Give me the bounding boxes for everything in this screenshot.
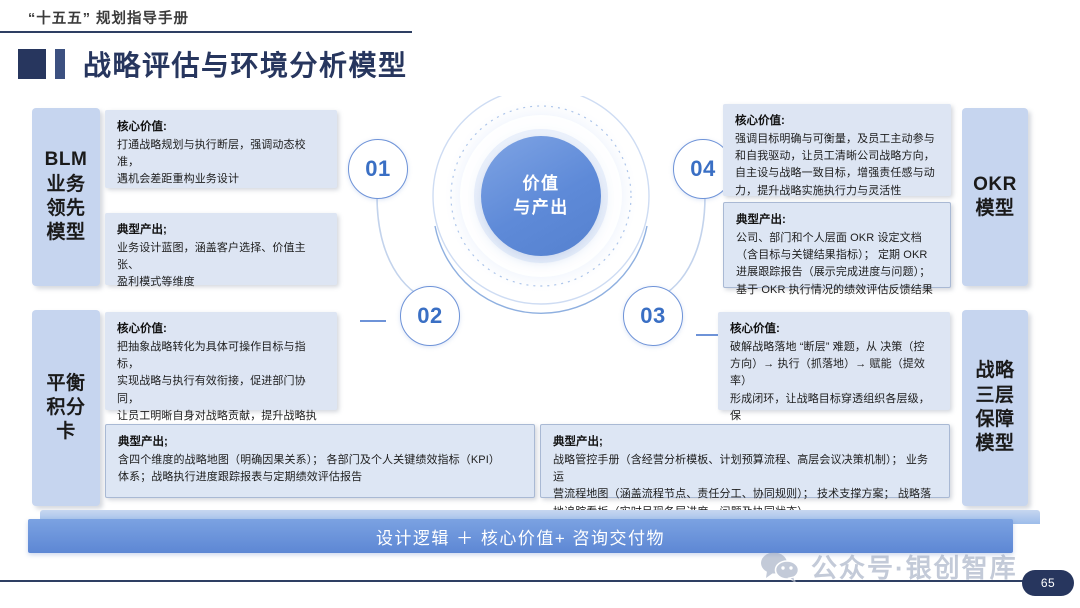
card-okr-output-head: 典型产出: bbox=[736, 212, 939, 229]
core-circle: 价值 与产出 bbox=[481, 136, 601, 256]
model-pill-blm[interactable]: BLM 业务 领先 模型 bbox=[32, 108, 100, 286]
card-blm-core-value-head: 核心价值: bbox=[117, 119, 326, 136]
card-blm-output-head: 典型产出; bbox=[117, 222, 326, 239]
card-bsc-core-value[interactable]: 核心价值: 把抽象战略转化为具体可操作目标与指标， 实现战略与执行有效衔接，促进… bbox=[105, 312, 337, 410]
wechat-watermark: 公众号·银创智库 bbox=[760, 548, 1018, 585]
model-pill-okr[interactable]: OKR 模型 bbox=[962, 108, 1028, 286]
model-pill-three-layer[interactable]: 战略 三层 保障 模型 bbox=[962, 310, 1028, 506]
card-okr-output[interactable]: 典型产出: 公司、部门和个人层面 OKR 设定文档 （含目标与关键结果指标）； … bbox=[723, 202, 951, 288]
card-three-layer-output-head: 典型产出; bbox=[553, 434, 938, 451]
card-blm-output-body: 业务设计蓝图，涵盖客户选择、价值主张、 盈利模式等维度 bbox=[117, 240, 326, 292]
card-blm-core-value-body: 打通战略规划与执行断层，强调动态校准， 遇机会差距重构业务设计 bbox=[117, 137, 326, 189]
wechat-watermark-label: 公众号·银创智库 bbox=[811, 548, 1018, 585]
model-pill-bsc-label: 平衡 积分 卡 bbox=[46, 372, 85, 445]
model-pill-three-layer-label: 战略 三层 保障 模型 bbox=[975, 359, 1014, 456]
core-label-line-1: 价值 bbox=[523, 172, 560, 196]
wechat-icon bbox=[760, 551, 800, 583]
model-pill-bsc[interactable]: 平衡 积分 卡 bbox=[32, 310, 100, 506]
card-bsc-output-body: 含四个维度的战略地图（明确因果关系）； 各部门及个人关键绩效指标（KPI） 体系… bbox=[118, 452, 523, 487]
card-bsc-core-value-head: 核心价值: bbox=[117, 321, 326, 338]
model-pill-blm-label: BLM 业务 领先 模型 bbox=[45, 148, 88, 245]
card-three-layer-output[interactable]: 典型产出; 战略管控手册（含经营分析模板、计划预算流程、高层会议决策机制）； 业… bbox=[540, 424, 950, 498]
step-badge-03[interactable]: 03 bbox=[623, 286, 683, 346]
card-three-layer-core-value[interactable]: 核心价值: 破解战略落地 “断层” 难题，从 决策（控 方向）→ 执行（抓落地）… bbox=[718, 312, 950, 410]
step-badge-02[interactable]: 02 bbox=[400, 286, 460, 346]
step-badge-01[interactable]: 01 bbox=[348, 139, 408, 199]
summary-banner-label: 设计逻辑 ＋ 核心价值+ 咨询交付物 bbox=[376, 524, 665, 549]
card-bsc-output[interactable]: 典型产出; 含四个维度的战略地图（明确因果关系）； 各部门及个人关键绩效指标（K… bbox=[105, 424, 535, 498]
connector-stub-right bbox=[696, 334, 720, 336]
card-okr-output-body: 公司、部门和个人层面 OKR 设定文档 （含目标与关键结果指标）； 定期 OKR… bbox=[736, 230, 939, 300]
card-bsc-output-head: 典型产出; bbox=[118, 434, 523, 451]
card-okr-core-value-head: 核心价值: bbox=[735, 113, 940, 130]
card-three-layer-core-value-head: 核心价值: bbox=[730, 321, 939, 338]
connector-stub-left bbox=[360, 320, 386, 322]
model-pill-okr-label: OKR 模型 bbox=[973, 173, 1017, 222]
card-okr-core-value[interactable]: 核心价值: 强调目标明确与可衡量，及员工主动参与 和自我驱动，让员工清晰公司战略… bbox=[723, 104, 951, 196]
diagram-stage: 价值 与产出 01 04 02 03 BLM 业务 领先 模型 核心价值: 打通… bbox=[0, 0, 1080, 608]
card-blm-output[interactable]: 典型产出; 业务设计蓝图，涵盖客户选择、价值主张、 盈利模式等维度 bbox=[105, 213, 337, 285]
card-okr-core-value-body: 强调目标明确与可衡量，及员工主动参与 和自我驱动，让员工清晰公司战略方向， 自主… bbox=[735, 131, 940, 201]
page-number-badge: 65 bbox=[1022, 570, 1074, 596]
card-blm-core-value[interactable]: 核心价值: 打通战略规划与执行断层，强调动态校准， 遇机会差距重构业务设计 bbox=[105, 110, 337, 188]
core-label-line-2: 与产出 bbox=[513, 196, 569, 220]
